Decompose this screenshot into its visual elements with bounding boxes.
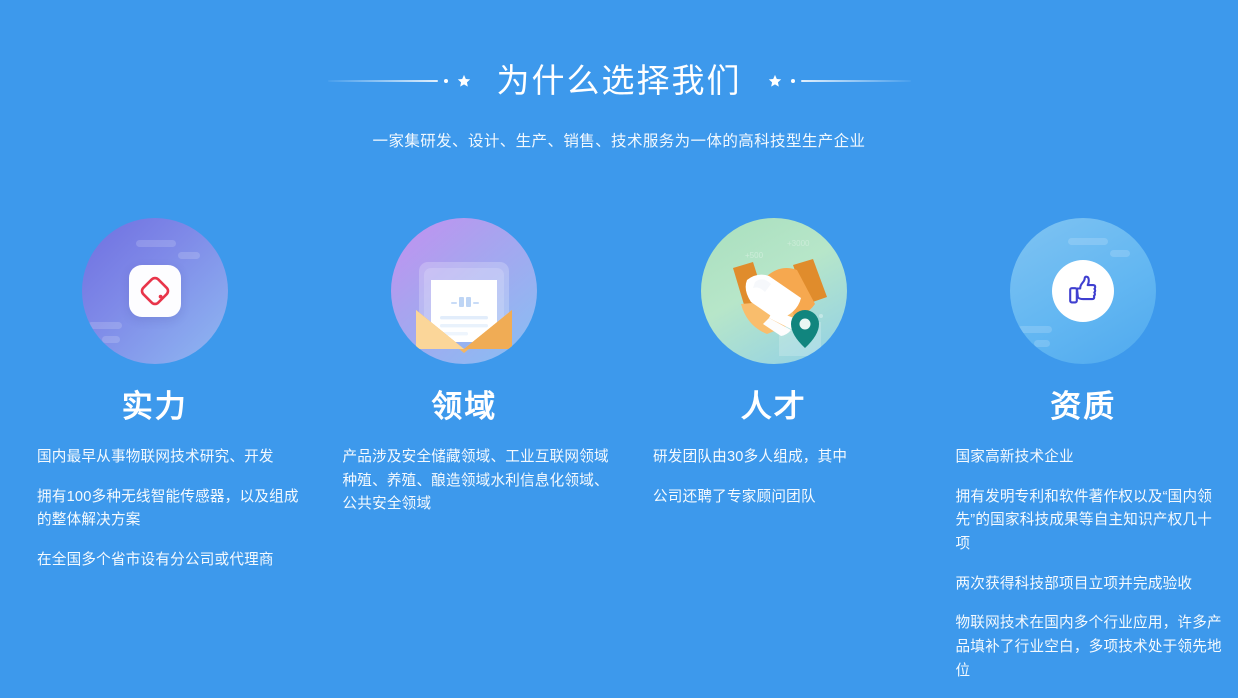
star-icon-right <box>768 74 782 88</box>
column-body-qualification: 国家高新技术企业 拥有发明专利和软件著作权以及“国内领先”的国家科技成果等自主知… <box>929 424 1238 683</box>
streak-decor <box>1018 326 1052 333</box>
icon-circle-strength <box>82 218 228 364</box>
handshake-location-icon: +500 +3000 <box>701 218 847 364</box>
feature-line: 两次获得科技部项目立项并完成验收 <box>956 573 1225 597</box>
column-title-qualification: 资质 <box>929 390 1238 424</box>
feature-line: 国家高新技术企业 <box>956 446 1225 470</box>
envelope-letter-icon <box>391 218 537 364</box>
decoration-dot-left <box>444 79 448 83</box>
streak-decor <box>1110 250 1130 257</box>
column-body-strength: 国内最早从事物联网技术研究、开发 拥有100多种无线智能传感器，以及组成的整体解… <box>0 424 310 573</box>
column-title-strength: 实力 <box>0 390 310 424</box>
why-choose-us-section: 为什么选择我们 一家集研发、设计、生产、销售、技术服务为一体的高科技型生产企业 <box>0 0 1238 698</box>
decoration-left <box>328 74 471 88</box>
streak-decor <box>1068 238 1108 245</box>
streak-decor <box>102 336 120 343</box>
icon-circle-domain <box>391 218 537 364</box>
feature-line: 研发团队由30多人组成，其中 <box>653 446 915 470</box>
feature-line: 国内最早从事物联网技术研究、开发 <box>37 446 302 470</box>
icon-container-domain <box>310 196 620 386</box>
column-body-talent: 研发团队由30多人组成，其中 公司还聘了专家顾问团队 <box>619 424 929 509</box>
feature-line: 公司还聘了专家顾问团队 <box>653 486 915 510</box>
feature-column-domain: 领域 产品涉及安全储藏领域、工业互联网领域种殖、养殖、酿造领域水利信息化领域、公… <box>310 196 620 683</box>
column-title-domain: 领域 <box>310 390 620 424</box>
streak-decor <box>88 322 122 329</box>
feature-column-strength: 实力 国内最早从事物联网技术研究、开发 拥有100多种无线智能传感器，以及组成的… <box>0 196 310 683</box>
decoration-right <box>768 74 911 88</box>
icon-container-strength <box>0 196 310 386</box>
column-body-domain: 产品涉及安全储藏领域、工业互联网领域种殖、养殖、酿造领域水利信息化领域、公共安全… <box>310 424 620 517</box>
feature-columns: 实力 国内最早从事物联网技术研究、开发 拥有100多种无线智能传感器，以及组成的… <box>0 196 1238 683</box>
decoration-dot-right <box>791 79 795 83</box>
icon-circle-talent: +500 +3000 <box>701 218 847 364</box>
decoration-line-left <box>328 80 438 82</box>
diamond-tile <box>129 265 181 317</box>
streak-decor <box>136 240 176 247</box>
icon-container-talent: +500 +3000 <box>619 196 929 386</box>
feature-line: 拥有发明专利和软件著作权以及“国内领先”的国家科技成果等自主知识产权几十项 <box>956 486 1225 557</box>
feature-column-qualification: 资质 国家高新技术企业 拥有发明专利和软件著作权以及“国内领先”的国家科技成果等… <box>929 196 1238 683</box>
star-icon-left <box>457 74 471 88</box>
column-title-talent: 人才 <box>619 390 929 424</box>
thumbs-up-icon <box>1064 272 1102 310</box>
feature-line: 拥有100多种无线智能传感器，以及组成的整体解决方案 <box>37 486 302 533</box>
decoration-line-right <box>801 80 911 82</box>
thumb-disc <box>1052 260 1114 322</box>
streak-decor <box>178 252 200 259</box>
feature-line: 在全国多个省市设有分公司或代理商 <box>37 549 302 573</box>
svg-text:+500: +500 <box>745 251 764 260</box>
section-subtitle: 一家集研发、设计、生产、销售、技术服务为一体的高科技型生产企业 <box>0 129 1238 151</box>
svg-text:+3000: +3000 <box>787 239 810 248</box>
feature-line: 产品涉及安全储藏领域、工业互联网领域种殖、养殖、酿造领域水利信息化领域、公共安全… <box>343 446 610 517</box>
feature-line: 物联网技术在国内多个行业应用，许多产品填补了行业空白，多项技术处于领先地位 <box>956 612 1225 683</box>
title-row: 为什么选择我们 <box>0 64 1238 97</box>
page-title: 为什么选择我们 <box>471 64 768 97</box>
icon-circle-qualification <box>1010 218 1156 364</box>
feature-column-talent: +500 +3000 <box>619 196 929 683</box>
icon-container-qualification <box>929 196 1238 386</box>
diamond-icon <box>138 274 172 308</box>
streak-decor <box>1034 340 1050 347</box>
